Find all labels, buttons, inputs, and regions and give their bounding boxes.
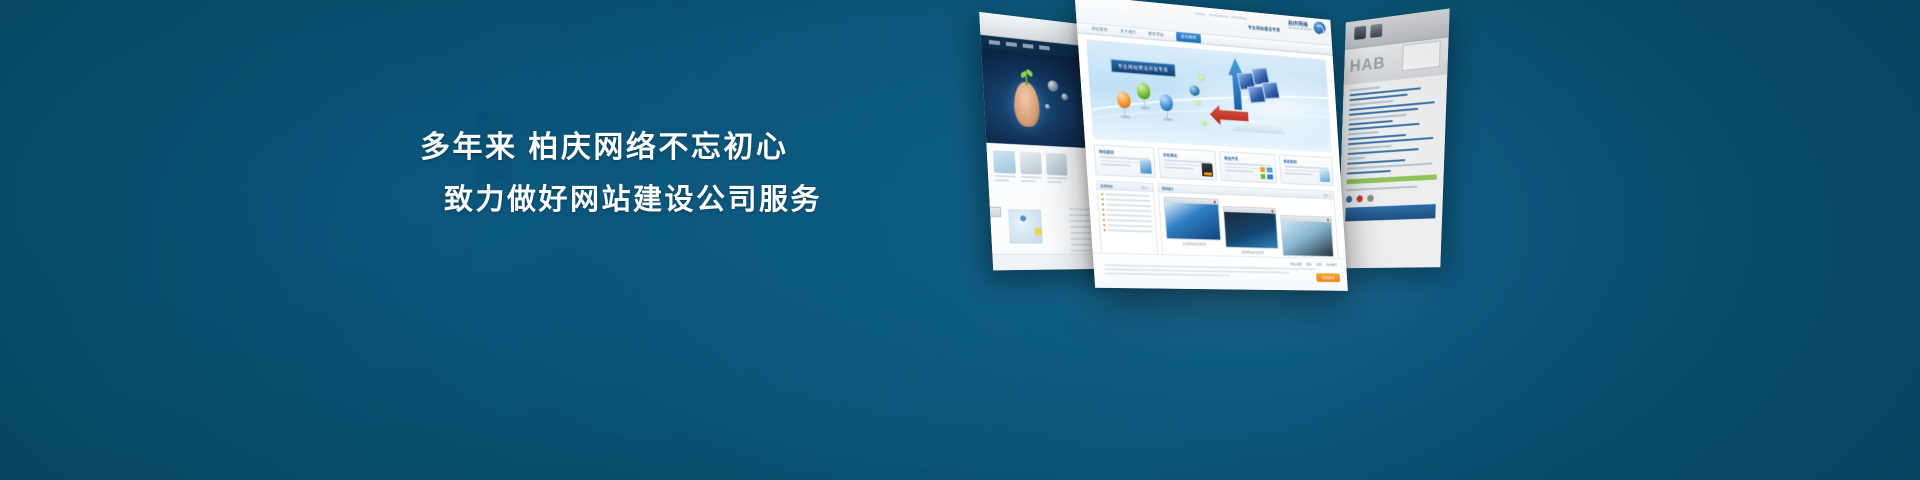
news-panel-title: 新闻动态	[1100, 183, 1113, 188]
sprout-icon	[1020, 70, 1032, 85]
list-item[interactable]	[1104, 229, 1153, 232]
news-list	[1098, 190, 1156, 233]
header-slogan: 专业网站建设专家	[1248, 25, 1281, 34]
nav-item-services[interactable]: 服务项目	[1148, 31, 1164, 37]
case-thumbnails: 企业网站建设案例 品牌网站建设案例 营销型网站建设案例	[1159, 192, 1338, 263]
headline-line-1: 多年来 柏庆网络不忘初心	[0, 128, 880, 168]
list-item[interactable]	[1103, 219, 1152, 222]
hero-banner: 多年来 柏庆网络不忘初心 致力做好网站建设公司服务	[0, 0, 1920, 480]
calendar-icon	[1354, 26, 1366, 40]
case-thumbnail[interactable]: 企业网站建设案例	[1163, 197, 1222, 261]
footer-link[interactable]: 留言	[1306, 262, 1312, 266]
case-thumbnail[interactable]: 营销型网站建设案例	[1280, 215, 1334, 263]
online-consult-button[interactable]: 在线咨询	[1316, 273, 1340, 282]
grid-icon	[1260, 167, 1273, 179]
nav-item-cases[interactable]: 成功案例	[1176, 32, 1202, 43]
case-thumbnail[interactable]: 品牌网站建设案例	[1223, 206, 1280, 262]
center-hero-banner: 专业网站建设开发专家	[1086, 39, 1332, 152]
list-item[interactable]	[1103, 214, 1152, 218]
service-card-title: 微信开发	[1224, 155, 1270, 162]
mockup-center: design . development . marketing 专业网站建设专…	[1075, 0, 1348, 291]
blue-orb-figure	[1159, 94, 1174, 121]
news-panel: 新闻动态 更多>>	[1096, 180, 1159, 266]
list-item[interactable]	[1103, 224, 1152, 227]
left-feature-image	[1008, 209, 1043, 244]
site-logo[interactable]: 柏庆网络 BAI QING NETWORK	[1288, 19, 1326, 35]
service-card-title: 网站建设	[1099, 149, 1149, 157]
right-blue-banner	[1345, 204, 1436, 221]
service-card[interactable]: 手机网站	[1157, 148, 1217, 181]
right-green-bar	[1347, 174, 1437, 184]
nav-item-about[interactable]: 关于我们	[1120, 29, 1136, 36]
headline-line-2: 致力做好网站建设公司服务	[0, 180, 880, 220]
list-item[interactable]	[1101, 193, 1150, 197]
footer-link[interactable]: 联系我们	[1326, 263, 1337, 267]
news-more-link[interactable]: 更多>>	[1141, 185, 1150, 189]
left-side-badge	[983, 207, 1002, 218]
vignette-overlay	[0, 0, 1920, 480]
service-card[interactable]: 微信开发	[1219, 151, 1277, 183]
hand-icon	[1013, 81, 1041, 127]
nav-item-home[interactable]: 网站首页	[1092, 26, 1109, 33]
service-card[interactable]: 系统定制	[1278, 154, 1333, 186]
cases-more-link[interactable]: 更多>>	[1323, 193, 1331, 197]
headline-block: 多年来 柏庆网络不忘初心 致力做好网站建设公司服务	[0, 128, 880, 220]
node-dot-icon	[1199, 76, 1203, 80]
document-icon	[1139, 160, 1151, 174]
green-orb-figure	[1136, 82, 1151, 109]
service-card-title: 系统定制	[1283, 159, 1328, 166]
printer-icon	[1370, 24, 1382, 38]
list-item[interactable]	[1101, 198, 1150, 202]
list-item[interactable]	[1102, 203, 1151, 207]
list-item[interactable]	[1102, 208, 1151, 212]
right-action-icons	[1346, 192, 1436, 203]
header-tagline: design . development . marketing	[1195, 12, 1247, 21]
swoosh-circle-icon	[1313, 21, 1326, 35]
cases-panel-title: 案例展示	[1162, 186, 1174, 191]
footer-link[interactable]: 招聘	[1316, 262, 1322, 266]
hero-title-plate: 专业网站建设开发专家	[1110, 59, 1176, 77]
right-body	[1337, 74, 1447, 268]
website-mockups-stage: HAB	[990, 0, 1510, 390]
service-card[interactable]: 网站建设	[1094, 144, 1156, 178]
case-caption: 品牌网站建设案例	[1226, 250, 1279, 255]
case-caption: 企业网站建设案例	[1166, 241, 1221, 246]
service-card-title: 手机网站	[1163, 152, 1211, 160]
network-globe-icon	[1188, 84, 1201, 97]
tablet-icon	[1319, 169, 1330, 182]
orange-orb-figure	[1117, 91, 1132, 118]
mockup-right: HAB	[1337, 9, 1449, 269]
blue-cube-stack-icon	[1237, 71, 1288, 119]
footer-link[interactable]: 网站地图	[1291, 262, 1302, 266]
node-dot-icon	[1196, 101, 1200, 105]
phone-icon	[1201, 163, 1213, 177]
node-dot-icon	[1203, 121, 1207, 125]
